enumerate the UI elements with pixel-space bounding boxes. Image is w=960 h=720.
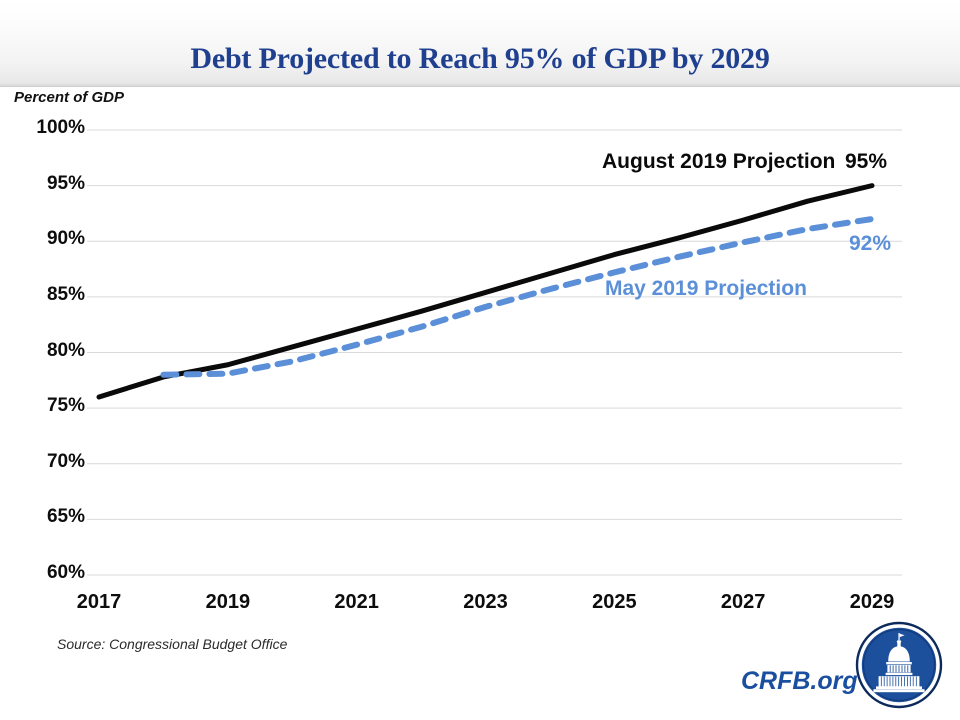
x-axis-tick-label: 2019 — [168, 591, 288, 614]
annotation-may-end-value: 92% — [849, 232, 891, 256]
x-axis-tick-label: 2023 — [426, 591, 546, 614]
capitol-dome-icon[interactable] — [855, 621, 943, 709]
y-axis-tick-label: 80% — [5, 340, 85, 362]
x-axis-tick-label: 2025 — [554, 591, 674, 614]
x-axis-tick-label: 2029 — [812, 591, 932, 614]
y-axis-tick-label: 85% — [5, 284, 85, 306]
y-axis-tick-label: 75% — [5, 395, 85, 417]
y-axis-tick-label: 60% — [5, 562, 85, 584]
x-axis-tick-label: 2027 — [683, 591, 803, 614]
annotation-august-projection: August 2019 Projection — [602, 150, 835, 174]
y-axis-tick-label: 90% — [5, 228, 85, 250]
source-note: Source: Congressional Budget Office — [57, 636, 287, 652]
x-axis-tick-label: 2017 — [39, 591, 159, 614]
y-axis-tick-label: 70% — [5, 451, 85, 473]
gridlines — [87, 130, 902, 575]
crfb-site-label[interactable]: CRFB.org — [741, 667, 858, 696]
y-axis-tick-label: 95% — [5, 173, 85, 195]
x-axis-tick-label: 2021 — [297, 591, 417, 614]
annotation-august-end-value: 95% — [845, 150, 887, 174]
y-axis-tick-label: 100% — [5, 117, 85, 139]
annotation-may-projection: May 2019 Projection — [605, 277, 807, 301]
chart-canvas: Debt Projected to Reach 95% of GDP by 20… — [0, 0, 960, 720]
y-axis-tick-label: 65% — [5, 506, 85, 528]
